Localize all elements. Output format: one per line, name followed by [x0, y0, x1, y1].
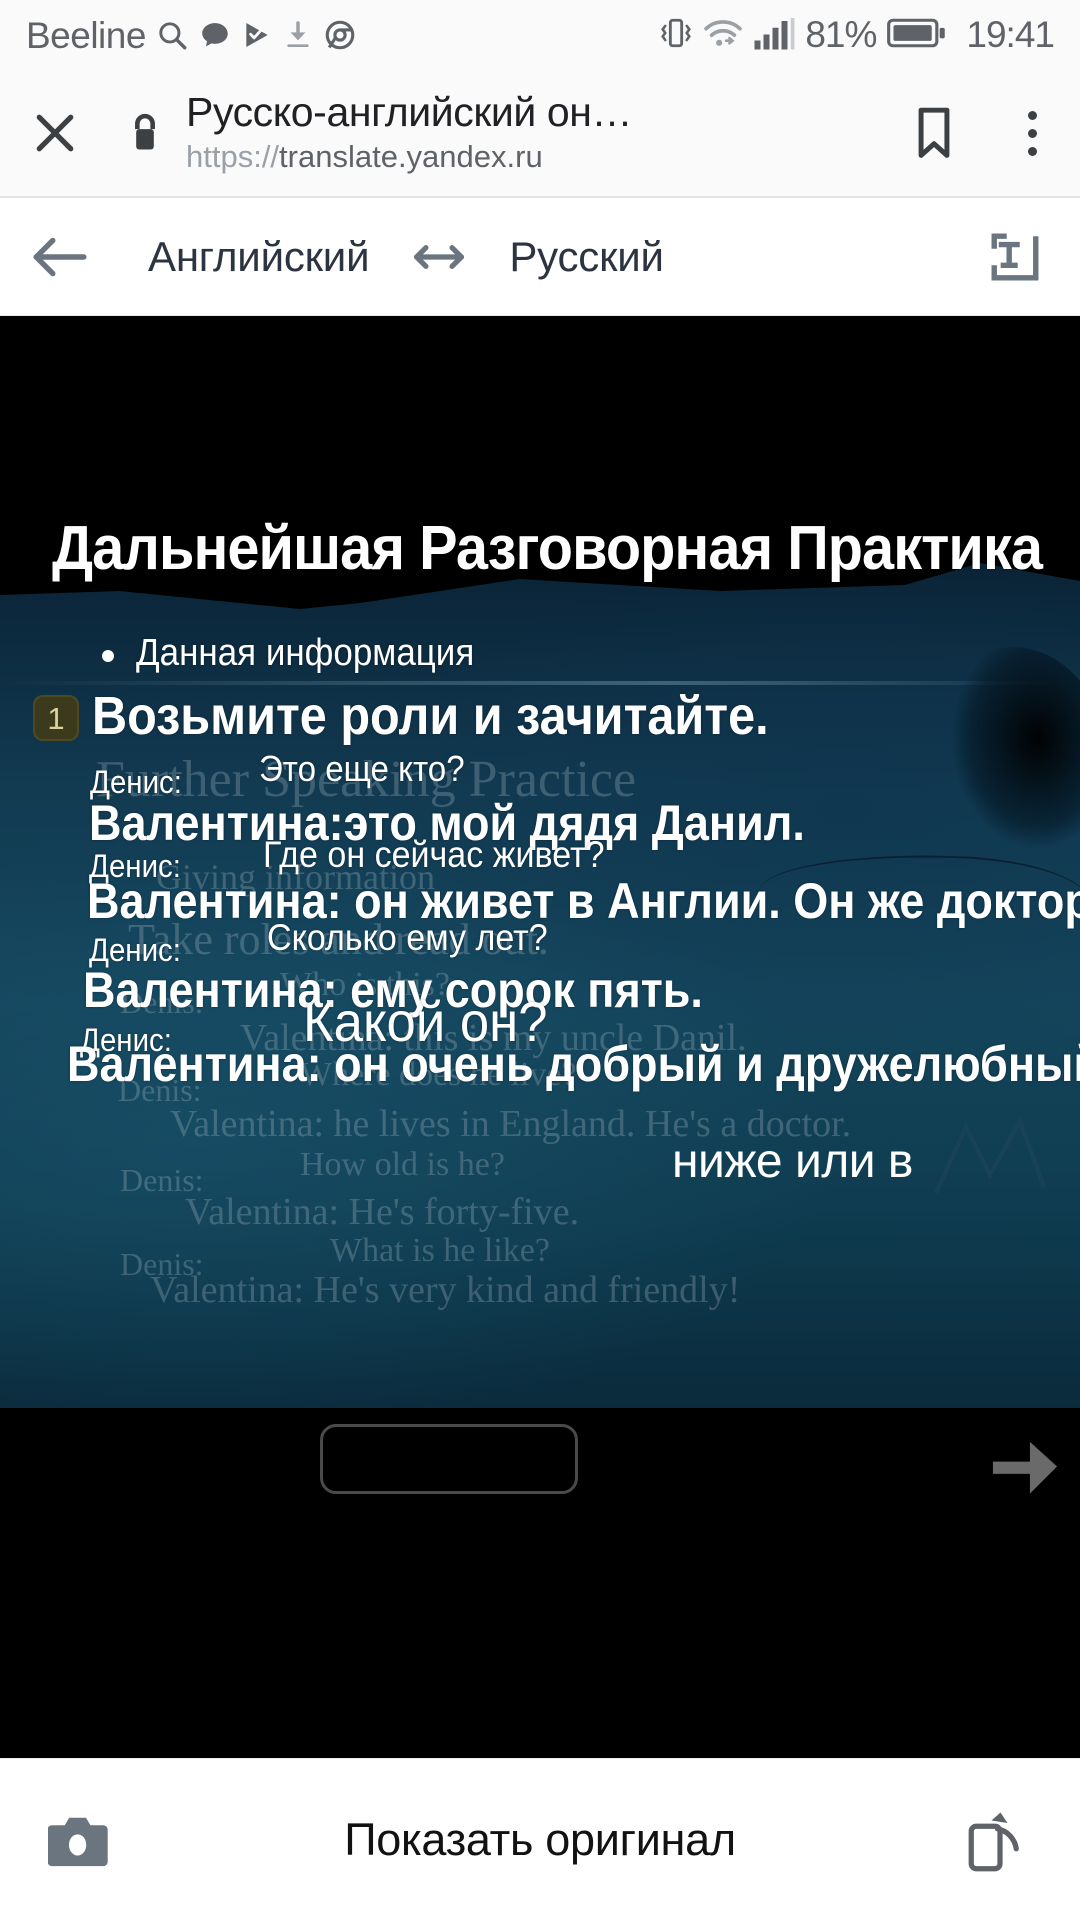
swap-horizontal-icon: [411, 240, 467, 274]
language-bar: Английский Русский: [0, 198, 1080, 316]
search-icon: [155, 18, 189, 52]
url-host: translate.yandex.ru: [279, 139, 543, 174]
dialogue-line: Где он сейчас живет?: [263, 834, 605, 876]
status-bar-left: Beeline: [26, 17, 357, 54]
flag-check-icon: [241, 18, 273, 52]
page-url: https://translate.yandex.ru: [186, 138, 884, 175]
lock-icon: [110, 110, 180, 156]
browser-toolbar: Русско-английский он… https://translate.…: [0, 70, 1080, 198]
swap-languages-button[interactable]: [411, 240, 467, 274]
photo-scribble: [930, 1115, 1050, 1205]
page-title: Русско-английский он…: [186, 90, 884, 136]
bookmark-icon: [911, 105, 957, 161]
overflow-menu-icon: [1028, 147, 1037, 156]
dialogue-line: Валентина: он живет в Англии. Он же докт…: [87, 872, 1080, 930]
slide-title: Дальнейшая Разговорная Практика: [52, 513, 1042, 584]
next-arrow-icon[interactable]: [988, 1434, 1062, 1504]
rotate-device-icon: [960, 1805, 1030, 1875]
dialogue-line: Валентина: он очень добрый и дружелюбный…: [67, 1035, 1080, 1093]
overflow-menu-icon: [1028, 111, 1037, 120]
back-arrow-icon: [30, 233, 88, 281]
download-icon: [282, 18, 314, 52]
clock-label: 19:41: [966, 14, 1054, 56]
close-icon: [28, 106, 82, 160]
dialogue-line: Сколько ему лет?: [267, 917, 548, 959]
carrier-label: Beeline: [26, 17, 146, 54]
signal-bars-icon: [753, 15, 795, 56]
back-button[interactable]: [0, 233, 118, 281]
select-text-button[interactable]: [950, 230, 1080, 284]
floating-control-outline[interactable]: [320, 1424, 578, 1494]
target-language-button[interactable]: Русский: [509, 233, 663, 281]
bottom-action-bar: Показать оригинал: [0, 1758, 1080, 1920]
dialogue-line: Это еще кто?: [259, 748, 465, 790]
phone-screen: Beeline: [0, 0, 1080, 1920]
select-text-icon: [987, 230, 1043, 284]
task-text: Возьмите роли и зачитайте.: [92, 685, 769, 747]
overflow-menu-icon: [1028, 129, 1037, 138]
wifi-icon: [703, 16, 743, 55]
url-scheme: https://: [186, 139, 279, 174]
step-number-badge: 1: [33, 695, 79, 741]
battery-icon: [886, 16, 948, 55]
overflow-menu-button[interactable]: [984, 111, 1080, 156]
camera-button[interactable]: [0, 1807, 170, 1873]
show-original-button[interactable]: Показать оригинал: [170, 1814, 910, 1866]
source-language-button[interactable]: Английский: [148, 233, 369, 281]
vibrate-icon: [659, 14, 693, 57]
status-bar-right: 81% 19:41: [659, 14, 1054, 57]
rotate-device-button[interactable]: [910, 1805, 1080, 1875]
status-bar: Beeline: [0, 0, 1080, 70]
battery-percent-label: 81%: [805, 14, 876, 56]
translated-image-canvas[interactable]: Further Speaking Practice Giving informa…: [0, 316, 1080, 1758]
bottom-cut-caption: ниже или в: [672, 1134, 913, 1189]
bullet-point-icon: [102, 650, 114, 662]
camera-icon: [48, 1807, 122, 1873]
message-bubble-icon: [198, 18, 232, 52]
bullet-text: Данная информация: [136, 632, 474, 675]
close-tab-button[interactable]: [0, 106, 110, 160]
chrome-icon: [323, 18, 357, 52]
address-bar[interactable]: Русско-английский он… https://translate.…: [180, 90, 884, 175]
bookmark-button[interactable]: [884, 105, 984, 161]
